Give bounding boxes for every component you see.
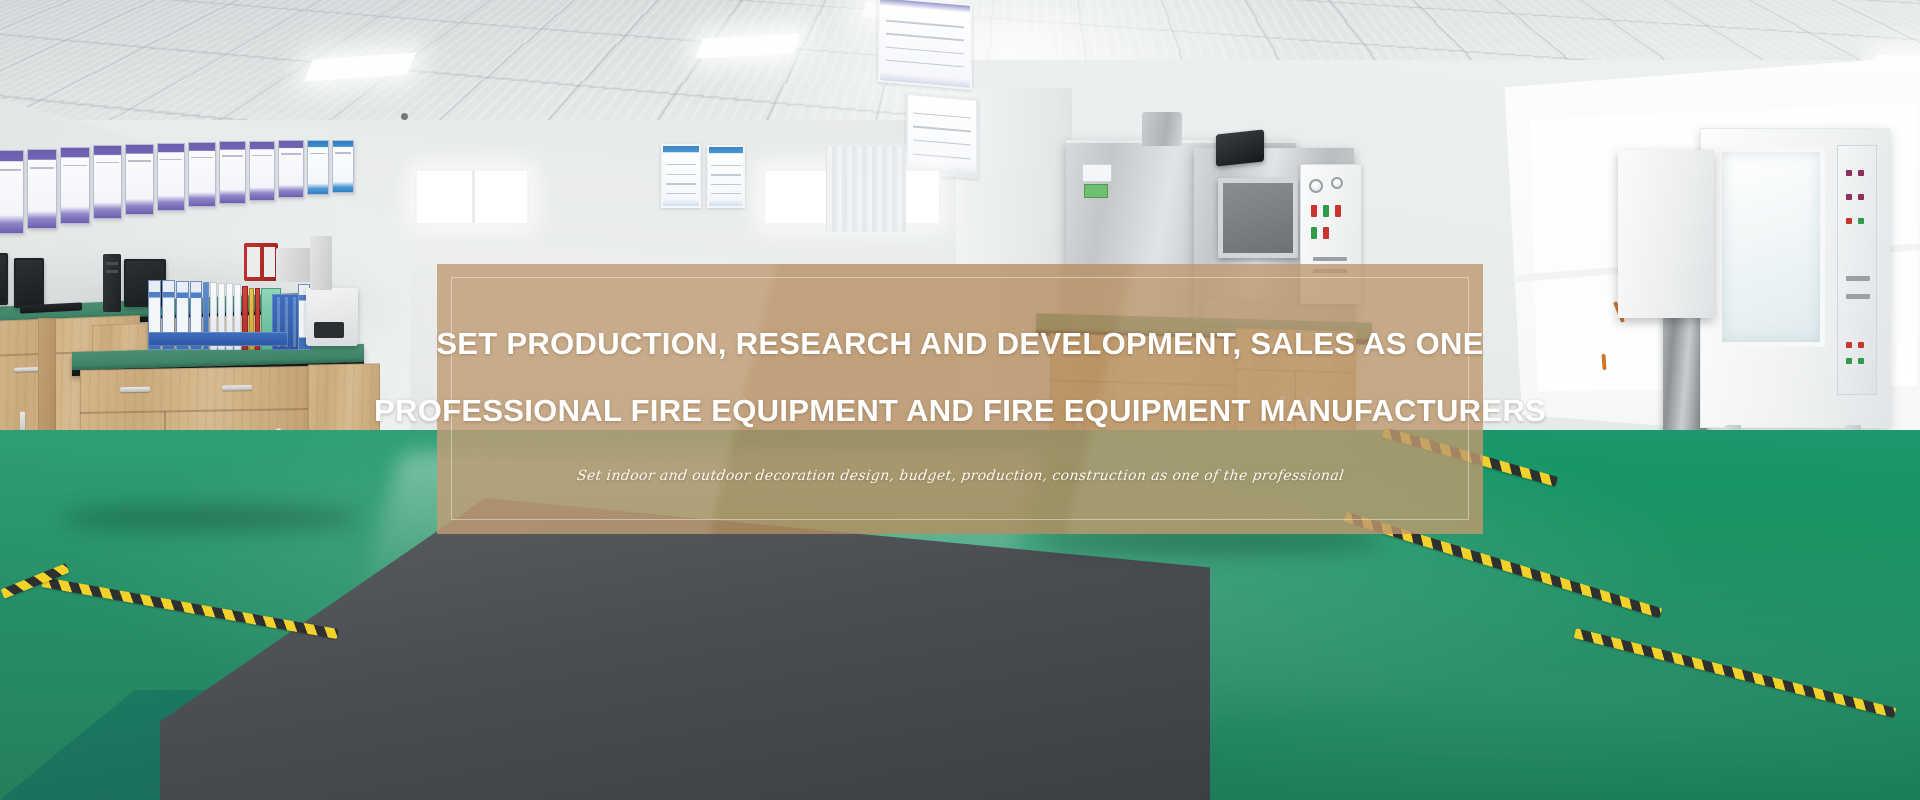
chamber-glass-door — [1717, 147, 1825, 347]
desktop-monitor — [0, 253, 8, 305]
white-test-chamber — [1700, 128, 1890, 428]
ceiling-sensor-dot — [401, 113, 408, 120]
gray-equipment-box — [310, 236, 332, 290]
red-equipment-box — [244, 243, 278, 281]
wall-poster-blue — [707, 145, 745, 208]
machine-viewing-door — [1218, 178, 1298, 258]
wall-poster-blue — [661, 144, 701, 208]
headline-line-2: PROFESSIONAL FIRE EQUIPMENT AND FIRE EQU… — [374, 395, 1546, 426]
pc-tower — [103, 254, 121, 312]
printer — [306, 288, 358, 346]
chamber-control-panel — [1837, 145, 1877, 395]
headline-subtitle: Set indoor and outdoor decoration design… — [576, 468, 1345, 484]
desktop-monitor — [14, 258, 44, 308]
machine-control-screen — [1216, 129, 1264, 166]
wall-poster — [906, 93, 978, 179]
gray-equipment-box — [276, 248, 312, 282]
window — [414, 168, 530, 226]
hero-banner-screenshot: SET PRODUCTION, RESEARCH AND DEVELOPMENT… — [0, 0, 1920, 800]
hanging-blind-panel — [826, 146, 906, 232]
secondary-equipment-cabinet — [1618, 150, 1714, 318]
wall-poster — [878, 0, 972, 90]
hero-text-overlay-panel: SET PRODUCTION, RESEARCH AND DEVELOPMENT… — [437, 264, 1483, 534]
exhaust-chimney — [1142, 112, 1182, 146]
wall-mounted-document-frames — [0, 118, 374, 228]
document-tray — [148, 332, 288, 346]
bench-shadow — [60, 505, 360, 531]
headline-line-1: SET PRODUCTION, RESEARCH AND DEVELOPMENT… — [436, 328, 1483, 359]
overlay-text-block: SET PRODUCTION, RESEARCH AND DEVELOPMENT… — [437, 264, 1483, 534]
